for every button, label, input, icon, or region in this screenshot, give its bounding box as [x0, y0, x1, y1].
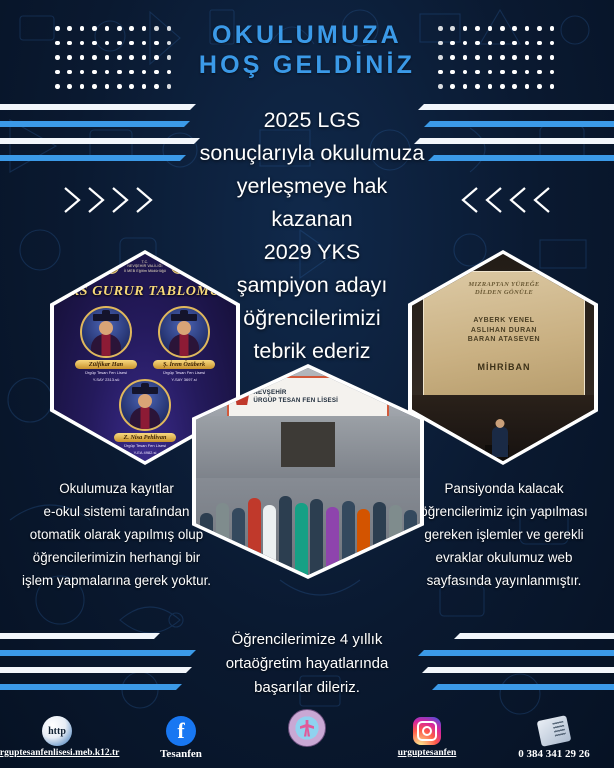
closing-line: Öğrencilerimize 4 yıllık	[147, 628, 467, 652]
stripe-top-left-4	[0, 155, 186, 161]
photo-concert-stage: MIZRAPTAN YÜREĞE DİLDEN GÖNÜLE AYBERK YE…	[408, 250, 598, 465]
phone-icon	[537, 715, 572, 747]
phone-label: 0 384 341 29 26	[484, 748, 614, 760]
page-title: OKULUMUZA HOŞ GELDİNİZ	[0, 20, 614, 81]
student-portrait	[158, 306, 210, 358]
closing-line: ortaöğretim hayatlarında	[147, 652, 467, 676]
chevron-right-icon	[62, 185, 84, 215]
chevron-right-icon	[110, 185, 132, 215]
honor-student-card: Ş. İrem Özüberk Ürgüp Tesan Fen Lisesi Y…	[153, 306, 215, 382]
screen-title-line-2: DİLDEN GÖNÜLE	[475, 289, 533, 296]
main-text-line: sonuçlarıyla okulumuza	[197, 137, 427, 170]
side-right-line: öğrencilerimiz için yapılması	[404, 500, 604, 523]
main-text-line: yerleşmeye hak	[197, 170, 427, 203]
school-sign: NEVŞEHİR ÜRGÜP TESAN FEN LİSESİ	[227, 376, 388, 417]
instagram-label[interactable]: urguptesanfen	[362, 748, 492, 758]
main-text-line: 2025 LGS	[197, 104, 427, 137]
honor-student-card: Z. Nisa Pehlivan Ürgüp Tesan Fen Lisesi …	[114, 379, 176, 455]
stripe-top-left-2	[0, 121, 190, 127]
closing-line: başarılar dileriz.	[147, 676, 467, 700]
honor-board-title: YKS GURUR TABLOMUZ	[54, 284, 236, 300]
performer-name: BARAN ATASEVEN	[468, 336, 540, 343]
instagram-icon[interactable]	[413, 717, 441, 745]
footer-instagram[interactable]: urguptesanfen	[362, 714, 492, 758]
student-name: Z. Nisa Pehlivan	[114, 433, 176, 442]
stripe-bottom-right-1	[454, 633, 614, 639]
title-line-2: HOŞ GELDİNİZ	[0, 50, 614, 81]
performer-name: ASLIHAN DURAN	[471, 327, 537, 334]
dormitory-info-text: Pansiyonda kalacak öğrencilerimiz için y…	[404, 477, 604, 592]
side-left-line: işlem yapmalarına gerek yoktur.	[14, 569, 219, 592]
footer-facebook[interactable]: f Tesanfen	[116, 714, 246, 760]
title-line-1: OKULUMUZA	[0, 20, 614, 50]
chevron-group-left-pointing	[460, 185, 554, 215]
side-right-line: evraklar okulumuz web	[404, 546, 604, 569]
main-text-line: 2029 YKS	[197, 236, 427, 269]
closing-wishes-text: Öğrencilerimize 4 yıllık ortaöğretim hay…	[147, 628, 467, 700]
student-school: Ürgüp Tesan Fen Lisesi	[153, 370, 215, 376]
chevron-right-icon	[86, 185, 108, 215]
ministry-emblem-icon	[104, 259, 119, 274]
screen-title-line-1: MIZRAPTAN YÜREĞE	[468, 281, 539, 288]
side-left-line: Okulumuza kayıtlar	[14, 477, 219, 500]
school-sign-line-2: ÜRGÜP TESAN FEN LİSESİ	[253, 397, 338, 404]
ministry-crest: T.C. NEVŞEHİR VALİLİĞİ İl MEB Eğitim Müd…	[104, 259, 186, 274]
footer-phone[interactable]: 0 384 341 29 26	[484, 714, 614, 760]
footer-website[interactable]: http urguptesanfenlisesi.meb.k12.tr	[0, 714, 122, 758]
main-text-line: kazanan	[197, 203, 427, 236]
facebook-label[interactable]: Tesanfen	[116, 748, 246, 760]
footer-contact-bar: http urguptesanfenlisesi.meb.k12.tr f Te…	[0, 702, 614, 768]
student-name: Zülfikar Han	[75, 360, 137, 369]
globe-http-icon[interactable]: http	[42, 716, 72, 746]
performer-figure	[492, 427, 508, 457]
chevron-left-icon	[460, 185, 482, 215]
chevron-left-icon	[532, 185, 554, 215]
stripe-bottom-left-1	[0, 633, 160, 639]
poster-root: OKULUMUZA HOŞ GELDİNİZ 2025 LGS sonuçlar…	[0, 0, 614, 768]
student-name: Ş. İrem Özüberk	[153, 360, 215, 369]
stripe-top-right-3	[414, 138, 614, 144]
student-portrait	[119, 379, 171, 431]
honor-student-card: Zülfikar Han Ürgüp Tesan Fen Lisesi Y-SA…	[75, 306, 137, 382]
side-left-line: otomatik olarak yapılmış olup	[14, 523, 219, 546]
side-left-line: e-okul sistemi tarafından	[14, 500, 219, 523]
side-right-line: Pansiyonda kalacak	[404, 477, 604, 500]
stripe-top-left-3	[0, 138, 200, 144]
chevron-group-right-pointing	[62, 185, 156, 215]
footer-school-logo	[242, 711, 372, 745]
stripe-top-right-1	[418, 104, 614, 110]
student-portrait	[80, 306, 132, 358]
side-right-line: sayfasında yayınlanmıştır.	[404, 569, 604, 592]
chevron-left-icon	[484, 185, 506, 215]
stripe-top-left-1	[0, 104, 196, 110]
school-emblem-icon	[171, 259, 186, 274]
school-logo-icon	[288, 709, 326, 747]
chevron-right-icon	[134, 185, 156, 215]
main-text-line: şampiyon adayı	[197, 269, 427, 302]
header-banner: OKULUMUZA HOŞ GELDİNİZ	[0, 0, 614, 98]
school-sign-line-1: NEVŞEHİR	[253, 389, 286, 396]
projection-screen: MIZRAPTAN YÜREĞE DİLDEN GÖNÜLE AYBERK YE…	[423, 271, 585, 397]
chevron-left-icon	[508, 185, 530, 215]
student-school: Ürgüp Tesan Fen Lisesi	[114, 443, 176, 449]
ministry-line-3: İl MEB Eğitim Müdürlüğü	[124, 269, 166, 273]
student-school: Ürgüp Tesan Fen Lisesi	[75, 370, 137, 376]
website-label[interactable]: urguptesanfenlisesi.meb.k12.tr	[0, 748, 122, 758]
side-left-line: öğrencilerimizin herhangi bir	[14, 546, 219, 569]
audience-figure	[561, 435, 583, 461]
song-title: MİHRİBAN	[424, 362, 584, 372]
registration-info-text: Okulumuza kayıtlar e-okul sistemi tarafı…	[14, 477, 219, 592]
stripe-top-right-4	[428, 155, 614, 161]
facebook-icon[interactable]: f	[166, 716, 196, 746]
stripe-top-right-2	[424, 121, 614, 127]
student-crowd	[196, 455, 420, 575]
student-rank: Y-EA 4982.si	[114, 450, 176, 456]
performer-name: AYBERK YENEL	[473, 317, 534, 324]
side-right-line: gereken işlemler ve gerekli	[404, 523, 604, 546]
